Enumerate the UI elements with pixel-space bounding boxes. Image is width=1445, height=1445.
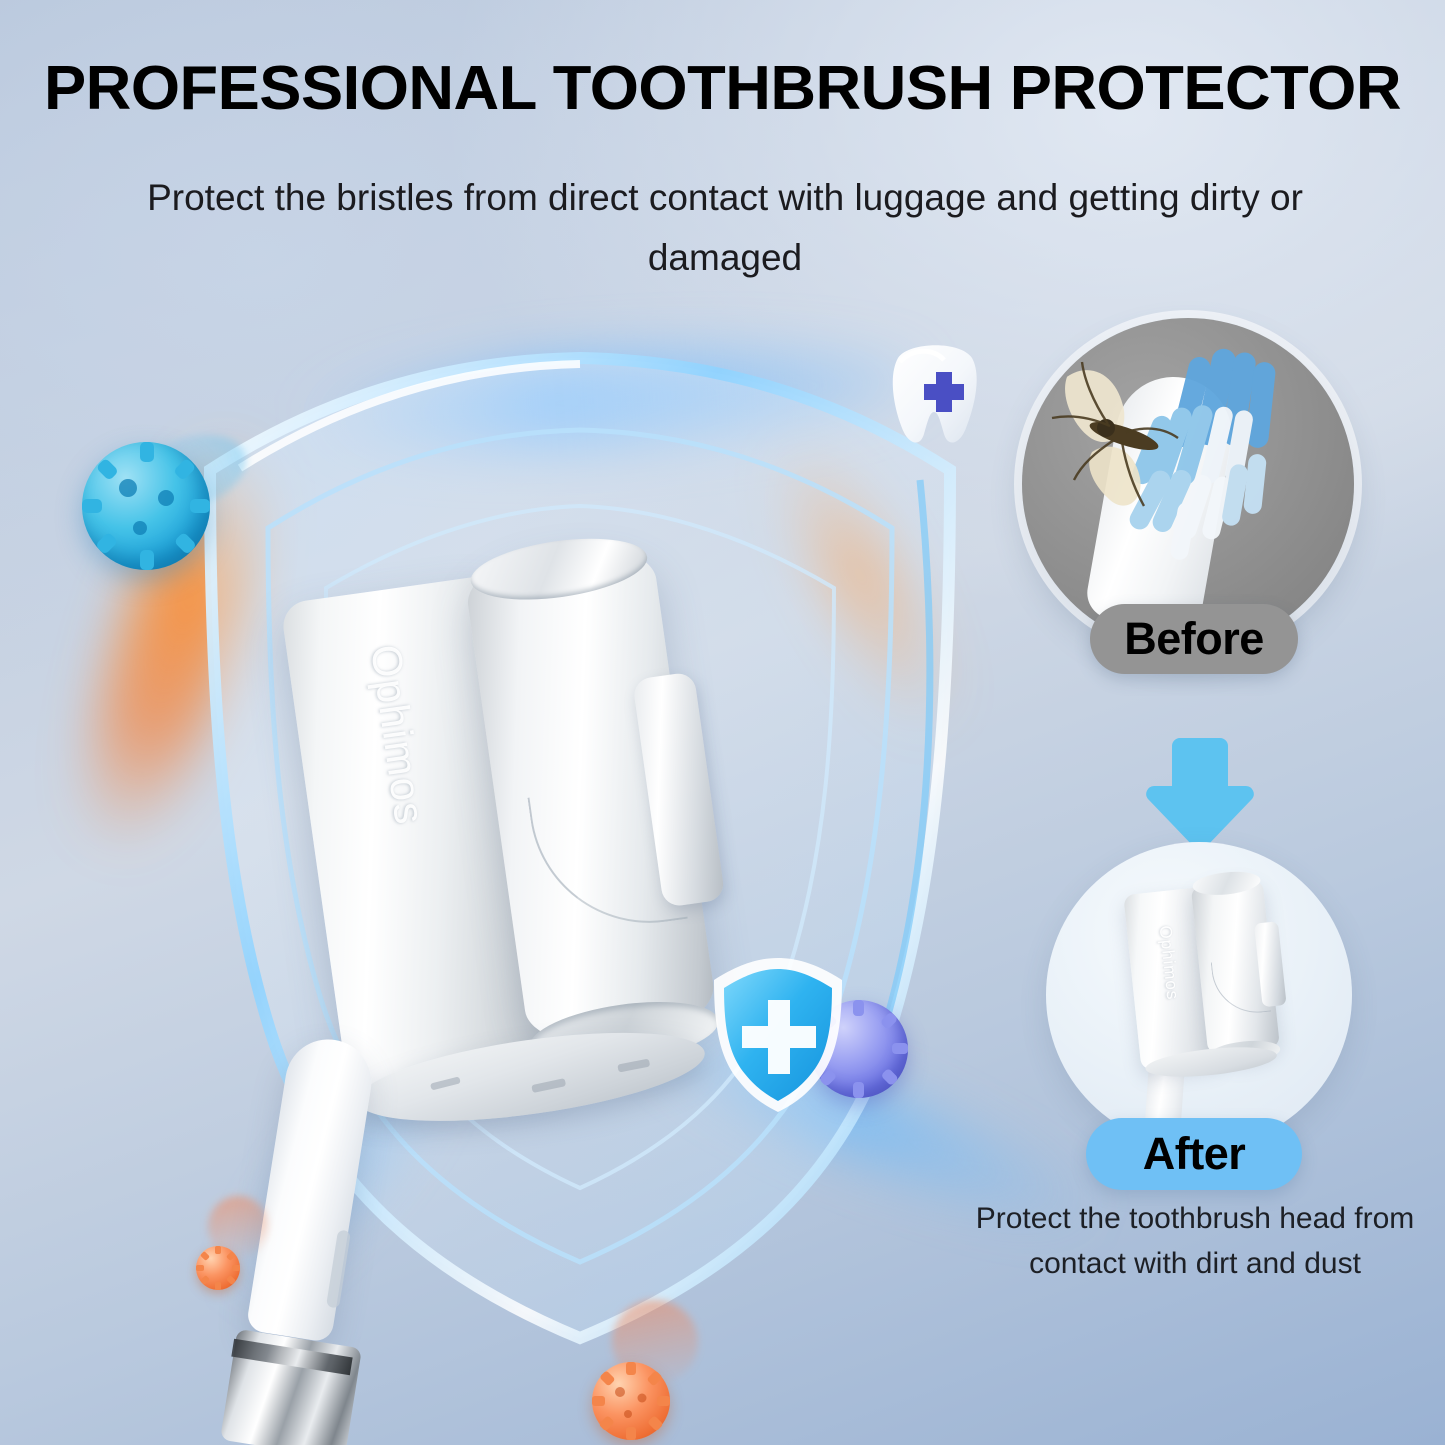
product-marketing-image: PROFESSIONAL TOOTHBRUSH PROTECTOR Protec… — [0, 0, 1445, 1445]
virus-icon — [592, 1362, 670, 1440]
down-arrow-icon — [1136, 730, 1260, 850]
before-label: Before — [1124, 613, 1264, 665]
after-label: After — [1143, 1128, 1246, 1180]
after-label-pill: After — [1086, 1118, 1302, 1190]
virus-icon — [196, 1246, 240, 1290]
page-subtitle: Protect the bristles from direct contact… — [135, 168, 1315, 288]
before-scene — [1022, 318, 1354, 650]
page-title: PROFESSIONAL TOOTHBRUSH PROTECTOR — [0, 58, 1445, 120]
tooth-icon — [878, 336, 990, 454]
protector-cap-icon: Ophimos — [1118, 863, 1314, 1084]
virus-icon — [82, 442, 210, 570]
after-caption: Protect the toothbrush head from contact… — [970, 1196, 1420, 1286]
shield-plus-icon — [700, 952, 870, 1124]
before-label-pill: Before — [1090, 604, 1298, 674]
